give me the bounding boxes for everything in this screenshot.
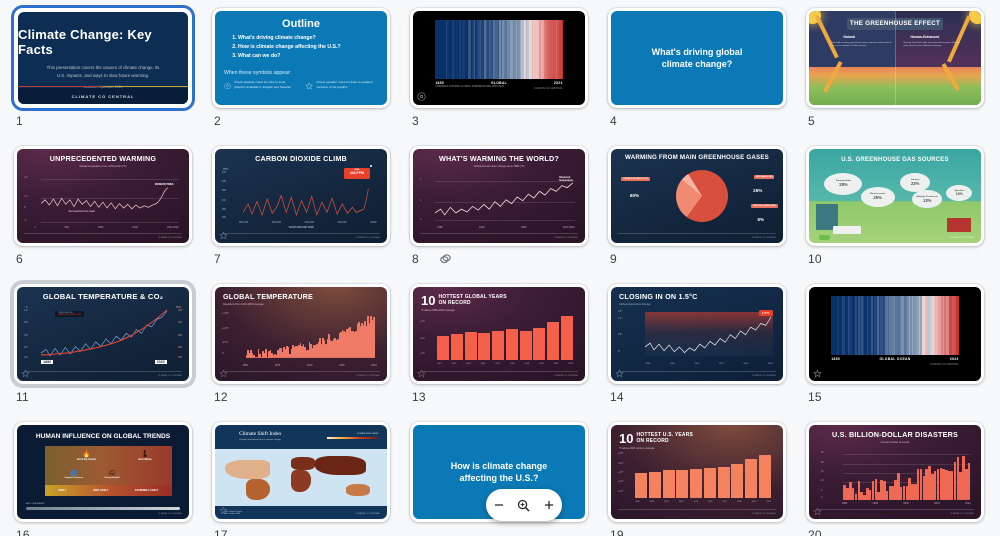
slide-thumbnail-3[interactable]: 1850 GLOBAL 2024 WARMING STRIPES GLOBAL … — [410, 8, 588, 108]
star-icon — [305, 80, 313, 92]
slide-2-title: Outline — [224, 18, 378, 30]
slide-number-1: 1 — [16, 114, 23, 128]
slide-6-title: UNPRECEDENTED WARMING — [25, 155, 181, 163]
slide-8-ytick: 2 — [420, 179, 421, 181]
slide-20-subtitle: Annual number of events — [817, 441, 973, 444]
slide-14-ytick: 1.5° — [618, 311, 622, 313]
slide-7-xtick: 200,000 — [338, 221, 347, 224]
bar-category-label: 2017 — [723, 501, 728, 503]
slide-1-divider-rule — [18, 86, 188, 87]
bar-category-label: 2006 — [650, 501, 655, 503]
slide-7-xaxis: 800,000 600,000 400,000 200,000 NOW — [239, 221, 377, 224]
slide-8-ytick: 1 — [420, 200, 421, 202]
slide-number-7: 7 — [214, 252, 221, 266]
slide-cell-3[interactable]: 1850 GLOBAL 2024 WARMING STRIPES GLOBAL … — [410, 8, 608, 146]
slide-16-title: HUMAN INFLUENCE ON GLOBAL TRENDS — [17, 433, 189, 440]
pie-value-co2: 60% — [630, 193, 639, 198]
slide-grid[interactable]: Climate Change: Key Facts This presentat… — [0, 0, 1000, 536]
slide-8-xtick: 2000 2023 — [563, 226, 575, 229]
link-icon[interactable] — [438, 252, 453, 266]
slide-19-bar-series — [635, 451, 771, 498]
star-icon — [417, 369, 426, 378]
slide-thumbnail-2[interactable]: Outline What's driving climate change? H… — [212, 8, 390, 108]
source-bubble-electric: Electric power 25% — [861, 187, 895, 207]
slide-cell-5[interactable]: THE GREENHOUSE EFFECT Natural Human-Enha… — [806, 8, 1000, 146]
slide-cell-2[interactable]: Outline What's driving climate change? H… — [212, 8, 410, 146]
slide-14-title: CLOSING IN ON 1.5°C — [619, 293, 775, 301]
slide-6-xtick: 1 — [34, 226, 35, 229]
slide-11-ytick-left: 1.2° — [24, 310, 28, 312]
slide-cell-12[interactable]: GLOBAL TEMPERATURE Departure from 1901-2… — [212, 284, 410, 422]
stripes-label-middle: GLOBAL OCEAN — [879, 357, 910, 361]
slide-20-xtick: 1980 — [842, 502, 848, 505]
slide-13-xaxis: 2021201920202015201720162018202220232024 — [437, 363, 573, 365]
slide-6-subtitle: Global temperature over 2,000 years (°F) — [25, 165, 181, 168]
rain-cloud-icon: 🌧 — [93, 470, 131, 477]
zoom-out-button[interactable] — [489, 495, 509, 515]
slide-thumbnail-8[interactable]: WHAT'S WARMING THE WORLD? Global annual … — [410, 146, 588, 246]
slide-14-ytick: 1.1° — [618, 318, 622, 320]
slide-13-ytick: +2.5 — [420, 321, 425, 323]
slide-number-14: 14 — [610, 390, 624, 404]
slide-11-xend: 2023 — [155, 360, 167, 364]
slide-6-xtick: 500 — [65, 226, 69, 229]
slide-12-ytick: 0° — [222, 353, 224, 355]
slide-20-ytick: 25 — [821, 452, 824, 454]
slide-6-ytick: +2° — [24, 177, 28, 179]
slide-14-ytick: 0.5° — [618, 334, 622, 336]
slide-8-title: WHAT'S WARMING THE WORLD? — [421, 155, 577, 163]
slide-14-xtick: 1975 — [719, 363, 724, 365]
slide-10-title: U.S. GREENHOUSE GAS SOURCES — [809, 157, 981, 163]
greenhouse-label-human: Human-Enhanced — [910, 35, 939, 39]
quadrant-hot-dry: 🔥 Hot & Dry Events — [62, 450, 110, 461]
slide-13-ytick: +2.0 — [420, 338, 425, 340]
slide-number-12: 12 — [214, 390, 228, 404]
slide-17-legend-label: CLIMATE SHIFT INDEX — [357, 433, 378, 435]
slide-8-xtick: 1960 — [521, 226, 527, 229]
slide-6-xtick: 1500 — [132, 226, 138, 229]
slide-cell-14[interactable]: CLOSING IN ON 1.5°C Global temperature c… — [608, 284, 806, 422]
stripes-label-middle: GLOBAL — [491, 81, 507, 85]
greenhouse-text-natural: Naturally occurring greenhouse gases tra… — [831, 42, 893, 49]
slide-13-bar-series — [437, 313, 573, 360]
slide-11-title: GLOBAL TEMPERATURE & CO₂ — [25, 293, 181, 301]
slide-number-3: 3 — [412, 114, 419, 128]
slide-14-xtick: 2024 — [768, 363, 773, 365]
zoom-icon[interactable] — [514, 495, 534, 515]
slide-12-xtick: 1950 — [339, 364, 345, 367]
slide-9-pie-chart — [676, 170, 728, 222]
slide-20-ytick: 5 — [821, 490, 822, 492]
slide-6-annot-recon: RECONSTRUCTED TEMP — [69, 211, 96, 213]
slide-11-ylabel-left: °C — [25, 306, 28, 309]
slide-7-xlabel: YEARS BEFORE NOW — [215, 226, 387, 229]
slide-20-ytick: 20 — [821, 462, 824, 464]
bar-category-label: 2016 — [510, 363, 515, 365]
zoom-control-bar[interactable] — [486, 489, 562, 521]
slide-thumbnail-15[interactable]: 1850 GLOBAL OCEAN 2024 CLIMATE CO CENTRA… — [806, 284, 984, 384]
slide-canvas-1: Climate Change: Key Facts This presentat… — [18, 12, 188, 104]
slide-canvas-19: 10 HOTTEST U.S. YEARS ON RECORD °F above… — [611, 425, 783, 519]
slide-6-xtick: 1000 — [98, 226, 104, 229]
slide-15-labels: 1850 GLOBAL OCEAN 2024 — [831, 357, 958, 361]
slide-15-credit: CLIMATE CO CENTRAL — [930, 363, 959, 366]
slide-thumbnail-4[interactable]: What's driving global climate change? — [608, 8, 786, 108]
quadrant-rainfall: 🌧 Heavy Rainfall — [93, 470, 131, 479]
scale-label: VERY LIKELY — [93, 489, 108, 492]
ocean-stripes-graphic — [831, 296, 958, 354]
slide-cell-11[interactable]: GLOBAL TEMPERATURE & CO₂ °C PPM TEMPERAT… — [14, 284, 212, 422]
source-bubble-industry: Industry 23% — [900, 173, 930, 192]
list-item: What can we do? — [238, 52, 378, 61]
slide-number-10: 10 — [808, 252, 822, 266]
list-item: What's driving climate change? — [238, 34, 378, 43]
slide-19-credit: CLIMATE CO CENTRAL — [752, 513, 776, 515]
slide-1-title: Climate Change: Key Facts — [18, 27, 188, 57]
slide-12-title: GLOBAL TEMPERATURE — [223, 293, 379, 301]
slide-number-13: 13 — [412, 390, 426, 404]
slide-7-xtick: 800,000 — [239, 221, 248, 224]
source-value: 23% — [911, 181, 919, 186]
slide-8-xtick: 1920 — [479, 226, 485, 229]
slide-20-ytick: 0 — [821, 497, 822, 499]
slide-7-xtick: NOW — [371, 221, 377, 224]
slide-canvas-12: GLOBAL TEMPERATURE Departure from 1901-2… — [215, 287, 387, 381]
slide-8-subtitle: Global annual mean change since 1880 (°F… — [421, 165, 577, 168]
slide-thumbnail-6[interactable]: UNPRECEDENTED WARMING Global temperature… — [14, 146, 192, 246]
slide-16-quadrant-panel: 🔥 Hot & Dry Events 🌡 Heat Waves 🌀 Tropic… — [45, 446, 172, 497]
slide-19-bignum: 10 — [619, 431, 633, 446]
slide-thumbnail-20[interactable]: U.S. BILLION-DOLLAR DISASTERS Annual num… — [806, 422, 984, 522]
slide-thumbnail-14[interactable]: CLOSING IN ON 1.5°C Global temperature c… — [608, 284, 786, 384]
pie-value-n2o: 5% — [757, 217, 764, 222]
list-item: How is climate change affecting the U.S.… — [238, 43, 378, 52]
greenhouse-text-human: Burning fossil fuels adds more greenhous… — [904, 42, 966, 49]
slide-8-credit: CLIMATE CO CENTRAL — [554, 237, 578, 239]
car-icon — [819, 235, 830, 240]
stripes-label-start: 1850 — [831, 357, 840, 361]
slide-12-subtitle: Departure from 1901-2000 average — [223, 303, 379, 306]
slide-14-credit: CLIMATE CO CENTRAL — [752, 375, 776, 377]
star-icon — [813, 507, 822, 516]
star-icon — [219, 369, 228, 378]
bar-category-label: 2024 — [568, 363, 573, 365]
slide-cell-10[interactable]: U.S. GREENHOUSE GAS SOURCES Transportati… — [806, 146, 1000, 284]
slide-14-xtick: 1900 — [670, 363, 675, 365]
slide-14-subtitle: Global temperature change — [619, 303, 775, 306]
slide-19-xaxis: 1998200620222020201520212017201620122024 — [635, 501, 771, 503]
slide-20-title: U.S. BILLION-DOLLAR DISASTERS — [817, 431, 973, 439]
slide-13-ytick: +1.5 — [420, 353, 425, 355]
slide-13-heading: 10 HOTTEST GLOBAL YEARS ON RECORD — [421, 293, 577, 308]
slide-11-ytick-left: 0.0° — [24, 357, 28, 359]
bar-category-label: 2018 — [525, 363, 530, 365]
bar-category-label: 2023 — [554, 363, 559, 365]
thermometer-icon: 🌡 — [126, 450, 164, 458]
stripes-label-start: 1850 — [435, 81, 444, 85]
quadrant-label: Tropical Cyclones — [55, 477, 93, 479]
slide-2-symbols-heading: When these symbols appear: — [224, 70, 378, 76]
slide-cell-9[interactable]: WARMING FROM MAIN GREENHOUSE GASES CARBO… — [608, 146, 806, 284]
slide-number-5: 5 — [808, 114, 815, 128]
slide-14-xaxis: 1850 1900 1950 1975 2000 2024 — [645, 363, 772, 365]
slide-19-subtitle: °F above 20th century average — [619, 447, 775, 450]
greenhouse-label-natural: Natural — [843, 35, 855, 39]
slide-19-ytick: +2.5° — [618, 472, 623, 474]
bar-category-label: 2024 — [766, 501, 771, 503]
slide-9-credit: CLIMATE CO CENTRAL — [752, 237, 776, 239]
slide-number-9: 9 — [610, 252, 617, 266]
slide-thumbnail-13[interactable]: 10 HOTTEST GLOBAL YEARS ON RECORD °F abo… — [410, 284, 588, 384]
slide-11-ytick-right: 420 — [178, 310, 182, 312]
slide-9-title: WARMING FROM MAIN GREENHOUSE GASES — [619, 155, 775, 162]
pie-tag-co2: CARBON DIOXIDE (CO2) — [621, 177, 649, 181]
warming-stripes-graphic — [435, 20, 562, 78]
quadrant-label: Hot & Dry Events — [62, 458, 110, 461]
slide-7-ytick: 200 — [222, 217, 226, 219]
slide-thumbnail-7[interactable]: CARBON DIOXIDE CLIMB PPM 470 400 350 300… — [212, 146, 390, 246]
slide-11-series — [41, 308, 168, 361]
slide-canvas-10: U.S. GREENHOUSE GAS SOURCES Transportati… — [809, 149, 981, 243]
slide-cell-13[interactable]: 10 HOTTEST GLOBAL YEARS ON RECORD °F abo… — [410, 284, 608, 422]
slide-thumbnail-16[interactable]: HUMAN INFLUENCE ON GLOBAL TRENDS 🔥 Hot &… — [14, 422, 192, 522]
slide-7-ytick: 350 — [222, 190, 226, 192]
symbol-pin-text: Check speaker notes for links to local g… — [234, 80, 297, 92]
slide-8-annotation: Observed temperature — [559, 177, 573, 183]
slide-canvas-2: Outline What's driving climate change? H… — [215, 11, 387, 105]
slide-8-ytick: 0 — [420, 219, 421, 221]
quadrant-heat-waves: 🌡 Heat Waves — [126, 450, 164, 461]
slide-11-ytick-right: 340 — [178, 357, 182, 359]
slide-6-xaxis: 1 500 1000 1500 1900 2020 — [34, 226, 179, 229]
slide-canvas-8: WHAT'S WARMING THE WORLD? Global annual … — [413, 149, 585, 243]
slide-thumbnail-10[interactable]: U.S. GREENHOUSE GAS SOURCES Transportati… — [806, 146, 984, 246]
star-icon — [813, 369, 822, 378]
slide-3-credit: CLIMATE CO CENTRAL — [534, 87, 563, 90]
slide-17-world-map — [215, 449, 387, 505]
sun-ray-left-in — [815, 15, 839, 58]
scale-label: EXTREMELY LIKELY — [135, 489, 158, 492]
slide-canvas-6: UNPRECEDENTED WARMING Global temperature… — [17, 149, 189, 243]
zoom-in-button[interactable] — [539, 495, 559, 515]
slide-11-ytick-left: 0.6° — [24, 335, 28, 337]
fire-icon: 🔥 — [62, 450, 110, 458]
slide-14-xtick: 1850 — [645, 363, 650, 365]
slide-19-heading: 10 HOTTEST U.S. YEARS ON RECORD — [619, 431, 775, 446]
slide-number-19: 19 — [610, 528, 624, 536]
slide-13-subtitle: °F above 1850-1900 average — [421, 309, 577, 312]
slide-20-xtick: 2000 — [903, 502, 909, 505]
slide-13-bignum: 10 — [421, 293, 435, 308]
bar-category-label: 2015 — [693, 501, 698, 503]
slide-12-ytick: -0.9°F — [222, 342, 228, 344]
star-icon — [615, 369, 624, 378]
slide-17-subtitle: Change in likelihood due to climate chan… — [239, 439, 281, 441]
slide-cell-7[interactable]: CARBON DIOXIDE CLIMB PPM 470 400 350 300… — [212, 146, 410, 284]
pie-tag-methane: METHANE (CH4) — [754, 175, 774, 179]
slide-canvas-7: CARBON DIOXIDE CLIMB PPM 470 400 350 300… — [215, 149, 387, 243]
slide-7-xtick: 600,000 — [272, 221, 281, 224]
slide-14-ytick: 0° — [618, 351, 620, 353]
slide-8-line-series — [435, 181, 574, 220]
slide-thumbnail-19[interactable]: 10 HOTTEST U.S. YEARS ON RECORD °F above… — [608, 422, 786, 522]
slide-number-11: 11 — [16, 390, 29, 404]
scale-label: LIKELY — [58, 489, 66, 492]
slide-cell-19[interactable]: 10 HOTTEST U.S. YEARS ON RECORD °F above… — [608, 422, 806, 536]
slide-20-xtick: 2010 — [934, 502, 940, 505]
slide-12-ytick: +0.9°F — [222, 328, 229, 330]
slide-thumbnail-11[interactable]: GLOBAL TEMPERATURE & CO₂ °C PPM TEMPERAT… — [14, 284, 192, 384]
slide-cell-8[interactable]: WHAT'S WARMING THE WORLD? Global annual … — [410, 146, 608, 284]
slide-16-credit: CLIMATE CO CENTRAL — [158, 513, 182, 515]
slide-4-title: What's driving global climate change? — [652, 46, 743, 70]
symbol-cell-pin: Check speaker notes for links to local g… — [224, 80, 297, 92]
slide-number-15: 15 — [808, 390, 822, 404]
slide-canvas-16: HUMAN INFLUENCE ON GLOBAL TRENDS 🔥 Hot &… — [17, 425, 189, 519]
slide-20-credit: CLIMATE CO CENTRAL — [950, 513, 974, 515]
slide-number-20: 20 — [808, 528, 822, 536]
slide-20-xtick: 2024 — [965, 502, 971, 505]
slide-14-xtick: 1950 — [694, 363, 699, 365]
slide-canvas-13: 10 HOTTEST GLOBAL YEARS ON RECORD °F abo… — [413, 287, 585, 381]
quadrant-label: Heavy Rainfall — [93, 477, 131, 479]
slide-cell-4[interactable]: What's driving global climate change? 4 — [608, 8, 806, 146]
slide-12-xtick: 2024 — [371, 364, 377, 367]
slide-cell-17[interactable]: Climate Shift Index Change in likelihood… — [212, 422, 410, 536]
slide-6-ytick: +1° — [24, 196, 28, 198]
slide-16-scale-axis: SELF CONFIDENCE — [26, 503, 45, 505]
slide-7-line-series — [243, 187, 370, 221]
star-icon — [21, 369, 30, 378]
slide-20-bar-series — [843, 451, 970, 500]
slide-canvas-17: Climate Shift Index Change in likelihood… — [215, 425, 387, 519]
bar-category-label: 2020 — [466, 363, 471, 365]
location-pin-icon — [417, 92, 426, 101]
slide-thumbnail-17[interactable]: Climate Shift Index Change in likelihood… — [212, 422, 390, 522]
slide-12-xtick: 1850 — [243, 364, 249, 367]
slide-14-line-series — [645, 315, 772, 356]
bar-category-label: 2021 — [708, 501, 713, 503]
slide-3-labels: 1850 GLOBAL 2024 — [435, 81, 562, 85]
slide-cell-15[interactable]: 1850 GLOBAL OCEAN 2024 CLIMATE CO CENTRA… — [806, 284, 1000, 422]
stripes-label-end: 2024 — [554, 81, 563, 85]
slide-2-list: What's driving climate change? How is cl… — [238, 34, 378, 61]
slide-7-credit: CLIMATE CO CENTRAL — [356, 237, 380, 239]
source-bubble-agriculture: Agriculture 10% — [946, 185, 972, 201]
slide-19-ytick: +2.0° — [618, 481, 623, 483]
slide-6-line-series — [41, 187, 179, 217]
slide-number-8: 8 — [412, 252, 419, 266]
slide-12-bar-series — [246, 311, 375, 358]
slide-canvas-5: THE GREENHOUSE EFFECT Natural Human-Enha… — [809, 11, 981, 105]
bar-category-label: 2020 — [679, 501, 684, 503]
source-bubble-buildings: Buildings & businesses 13% — [912, 190, 942, 208]
slide-20-ytick: 10 — [821, 480, 824, 482]
slide-6-annot-modern: MODERN TIMES — [155, 183, 174, 186]
slide-cell-1[interactable]: Climate Change: Key Facts This presentat… — [14, 8, 212, 146]
location-pin-icon — [224, 80, 231, 92]
bar-category-label: 2012 — [752, 501, 757, 503]
slide-17-legend-bar — [327, 437, 379, 439]
stripes-label-end: 2024 — [950, 357, 959, 361]
bar-category-label: 2016 — [737, 501, 742, 503]
source-value: 10% — [956, 192, 963, 196]
slide-cell-20[interactable]: U.S. BILLION-DOLLAR DISASTERS Annual num… — [806, 422, 1000, 536]
slide-13-credit: CLIMATE CO CENTRAL — [554, 375, 578, 377]
slide-canvas-11: GLOBAL TEMPERATURE & CO₂ °C PPM TEMPERAT… — [17, 287, 189, 381]
slide-6-ytick: -1° — [24, 220, 27, 222]
slide-6-xtick: 1900 2020 — [167, 226, 179, 229]
slide-cell-16[interactable]: HUMAN INFLUENCE ON GLOBAL TRENDS 🔥 Hot &… — [14, 422, 212, 536]
slide-canvas-20: U.S. BILLION-DOLLAR DISASTERS Annual num… — [809, 425, 981, 519]
slide-11-ytick-left: 0.9° — [24, 322, 28, 324]
source-value: 13% — [923, 198, 931, 203]
slide-1-subtitle: This presentation covers the causes of c… — [43, 64, 163, 79]
slide-cell-6[interactable]: UNPRECEDENTED WARMING Global temperature… — [14, 146, 212, 284]
slide-canvas-14: CLOSING IN ON 1.5°C Global temperature c… — [611, 287, 783, 381]
slide-thumbnail-9[interactable]: WARMING FROM MAIN GREENHOUSE GASES CARBO… — [608, 146, 786, 246]
slide-17-credit: CLIMATE CO CENTRAL — [356, 513, 380, 515]
slide-11-ytick-right: 380 — [178, 335, 182, 337]
pie-tag-n2o: NITROUS OXIDE (N2O) — [751, 204, 778, 208]
slide-thumbnail-5[interactable]: THE GREENHOUSE EFFECT Natural Human-Enha… — [806, 8, 984, 108]
source-value: 28% — [839, 182, 847, 187]
pie-value-methane: 26% — [753, 188, 762, 193]
slide-11-credit: CLIMATE CO CENTRAL — [158, 375, 182, 377]
slide-12-xtick: 1900 — [307, 364, 313, 367]
slide-3-caption: WARMING STRIPES GLOBAL TEMPERATURE 1850-… — [435, 85, 504, 89]
star-icon — [219, 506, 228, 515]
slide-thumbnail-1[interactable]: Climate Change: Key Facts This presentat… — [14, 8, 192, 108]
slide-19-title: HOTTEST U.S. YEARS ON RECORD — [636, 433, 693, 444]
slide-thumbnail-12[interactable]: GLOBAL TEMPERATURE Departure from 1901-2… — [212, 284, 390, 384]
slide-canvas-9: WARMING FROM MAIN GREENHOUSE GASES CARBO… — [611, 149, 783, 243]
bar-category-label: 2017 — [495, 363, 500, 365]
slide-20-xtick: 1990 — [873, 502, 879, 505]
slide-7-title: CARBON DIOXIDE CLIMB — [223, 155, 379, 163]
slide-number-2: 2 — [214, 114, 221, 128]
slide-7-ytick: 400 — [222, 181, 226, 183]
slide-number-16: 16 — [16, 528, 30, 536]
slide-7-ylabel: PPM — [223, 168, 228, 171]
slide-11-ytick-right: 400 — [178, 322, 182, 324]
source-value: 25% — [873, 195, 881, 200]
slide-12-credit: CLIMATE CO CENTRAL — [356, 375, 380, 377]
slide-19-ytick: +1.5° — [618, 491, 623, 493]
slide-2-symbol-row: Check speaker notes for links to local g… — [224, 80, 378, 92]
slide-8-xtick: 1880 — [437, 226, 443, 229]
slide-13-title: HOTTEST GLOBAL YEARS ON RECORD — [438, 295, 506, 306]
slide-12-ytick: +1.8°F — [222, 313, 229, 315]
quadrant-label: Heat Waves — [126, 458, 164, 461]
slide-14-xtick: 2000 — [743, 363, 748, 365]
slide-7-ppm-badge: 2024 424 PPM — [344, 168, 370, 179]
bar-category-label: 2022 — [664, 501, 669, 503]
slide-7-xtick: 400,000 — [305, 221, 314, 224]
badge-value: 424 PPM — [344, 171, 370, 175]
slide-canvas-15: 1850 GLOBAL OCEAN 2024 CLIMATE CO CENTRA… — [809, 287, 981, 381]
quadrant-cyclones: 🌀 Tropical Cyclones — [55, 470, 93, 479]
bar-category-label: 2021 — [437, 363, 442, 365]
slide-11-ytick-right: 360 — [178, 347, 182, 349]
slide-19-ytick: +3.5° — [618, 453, 623, 455]
slide-7-ytick: 470 — [222, 172, 226, 174]
symbol-star-text: Check speaker notes for links to updated… — [316, 80, 378, 92]
slide-16-confidence-scale — [26, 507, 181, 510]
slide-number-17: 17 — [214, 528, 228, 536]
slide-12-xaxis: 1850 1875 1900 1950 2024 — [243, 364, 377, 367]
